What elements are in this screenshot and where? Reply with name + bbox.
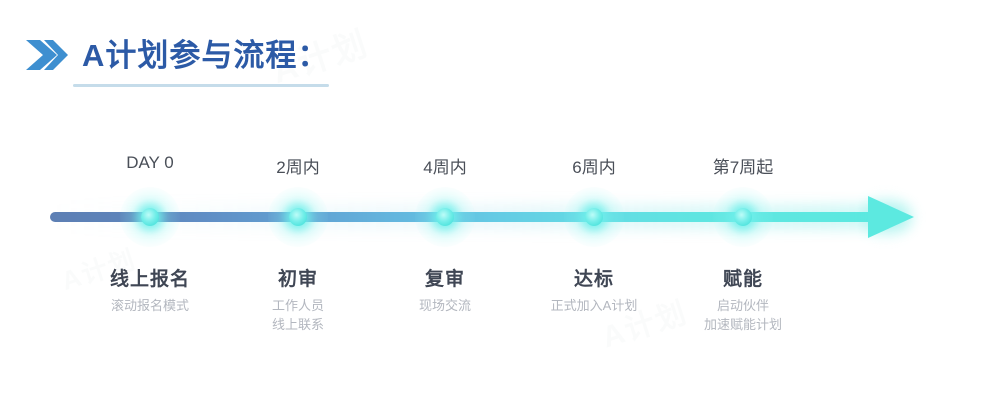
title-underline — [73, 84, 329, 87]
node-time-label: 第7周起 — [653, 153, 833, 178]
node-description: 启动伙伴 加速赋能计划 — [643, 296, 843, 334]
double-chevron-right-icon — [26, 38, 68, 72]
node-title: 赋能 — [653, 264, 833, 291]
arrow-right-icon — [868, 196, 914, 238]
node-description-line: 加速赋能计划 — [643, 315, 843, 334]
node-dot-icon[interactable] — [734, 208, 752, 226]
node-dot-icon[interactable] — [585, 208, 603, 226]
node-description-line: 线上联系 — [198, 315, 398, 334]
page-header: A计划参与流程： — [26, 32, 329, 78]
page-title: A计划参与流程： — [82, 40, 329, 71]
node-dot-icon[interactable] — [289, 208, 307, 226]
node-dot-icon[interactable] — [141, 208, 159, 226]
node-description-line: 启动伙伴 — [643, 296, 843, 315]
node-dot-icon[interactable] — [436, 208, 454, 226]
process-timeline: DAY 0 线上报名 滚动报名模式 2周内 初审 工作人员 线上联系 4周内 复… — [0, 140, 989, 370]
